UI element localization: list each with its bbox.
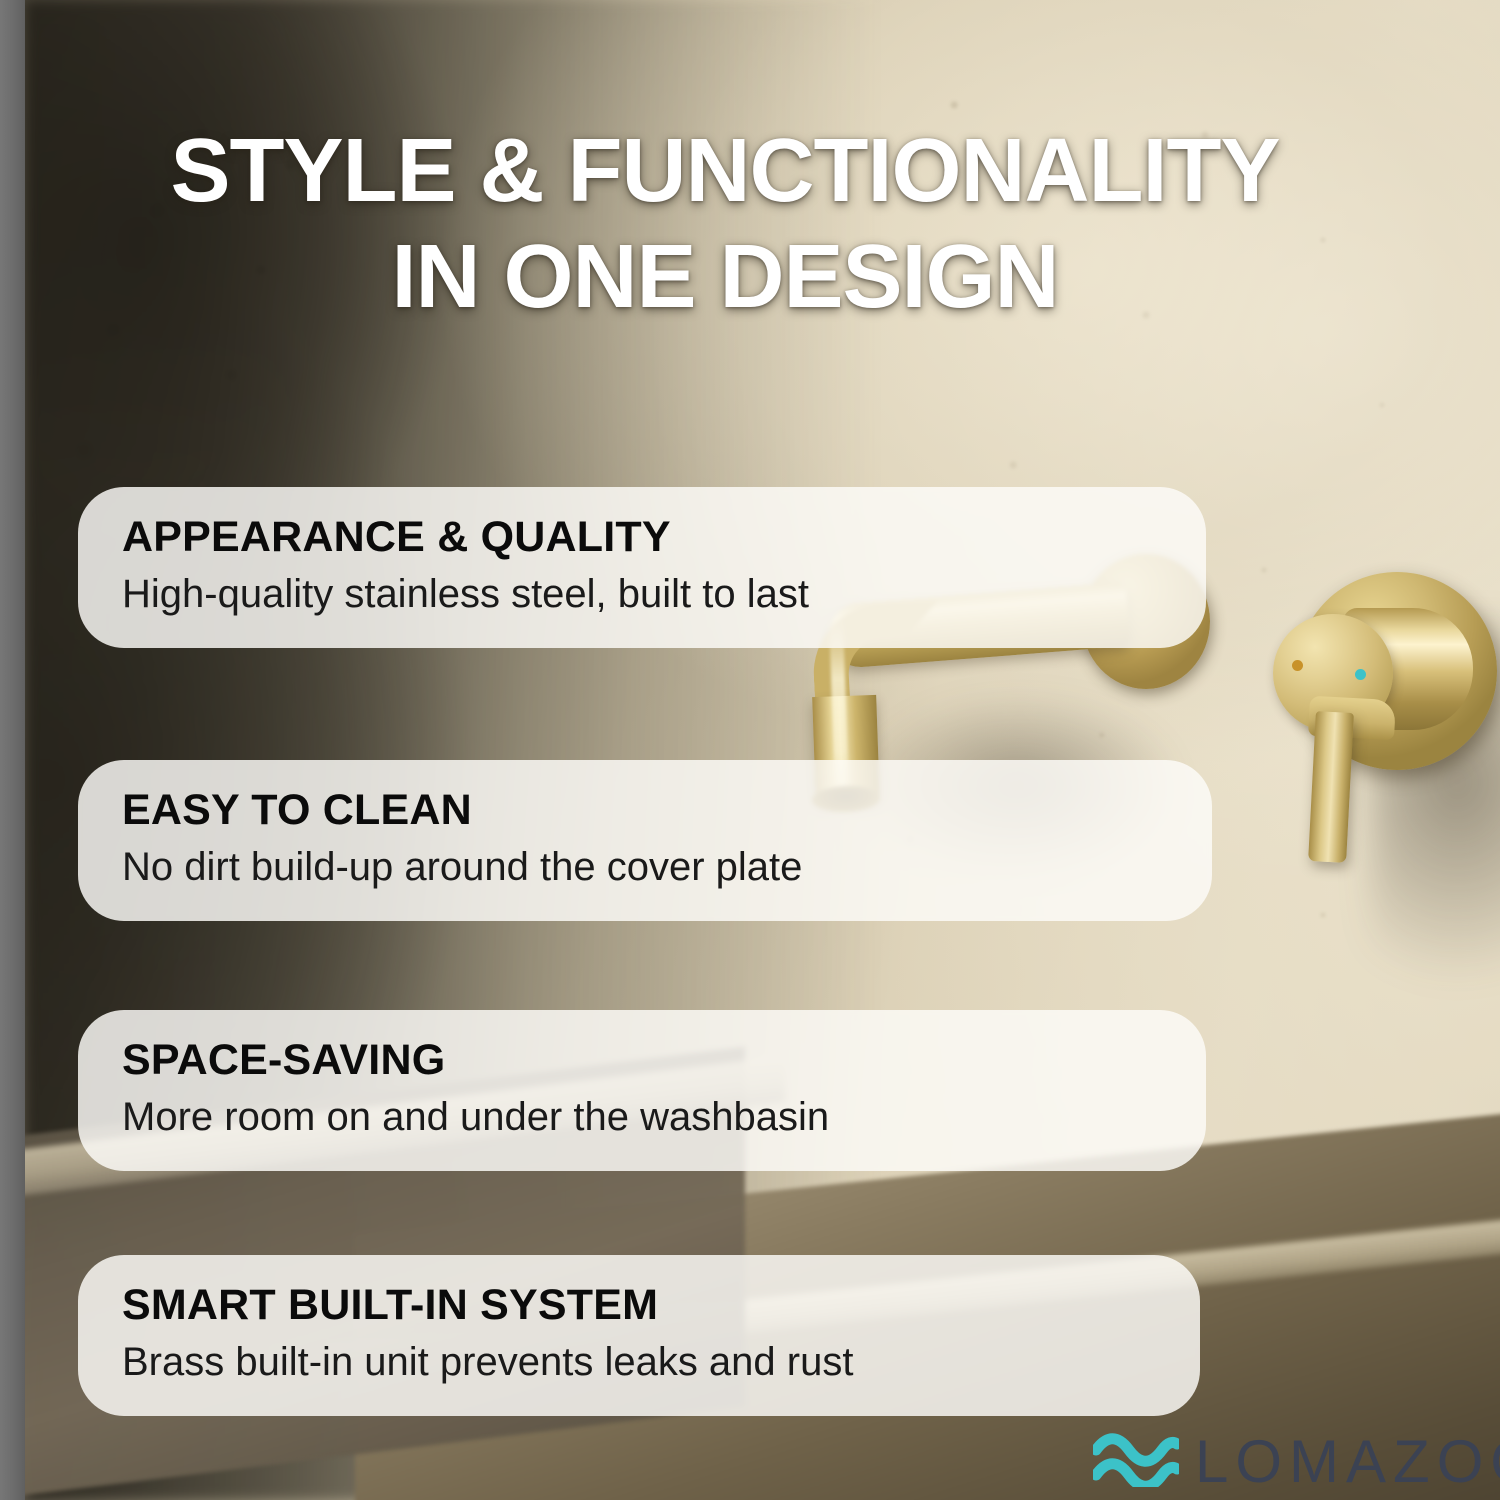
left-edge-strip (0, 0, 25, 1500)
double-wave-icon (1093, 1433, 1179, 1492)
feature-description: Brass built-in unit prevents leaks and r… (122, 1339, 1156, 1386)
brand-name: LOMAZOO (1195, 1432, 1500, 1492)
feature-description: More room on and under the washbasin (122, 1094, 1162, 1141)
feature-title: SMART BUILT-IN SYSTEM (122, 1281, 1156, 1329)
feature-card: APPEARANCE & QUALITY High-quality stainl… (78, 487, 1206, 648)
promo-banner: STYLE & FUNCTIONALITY IN ONE DESIGN APPE… (0, 0, 1500, 1500)
brand-logo: LOMAZOO (1093, 1432, 1500, 1492)
feature-description: No dirt build-up around the cover plate (122, 844, 1168, 891)
feature-card: SPACE-SAVING More room on and under the … (78, 1010, 1206, 1171)
feature-card: SMART BUILT-IN SYSTEM Brass built-in uni… (78, 1255, 1200, 1416)
feature-card-list: APPEARANCE & QUALITY High-quality stainl… (0, 0, 1500, 1500)
feature-description: High-quality stainless steel, built to l… (122, 571, 1162, 618)
feature-card: EASY TO CLEAN No dirt build-up around th… (78, 760, 1212, 921)
feature-title: SPACE-SAVING (122, 1036, 1162, 1084)
feature-title: APPEARANCE & QUALITY (122, 513, 1162, 561)
feature-title: EASY TO CLEAN (122, 786, 1168, 834)
